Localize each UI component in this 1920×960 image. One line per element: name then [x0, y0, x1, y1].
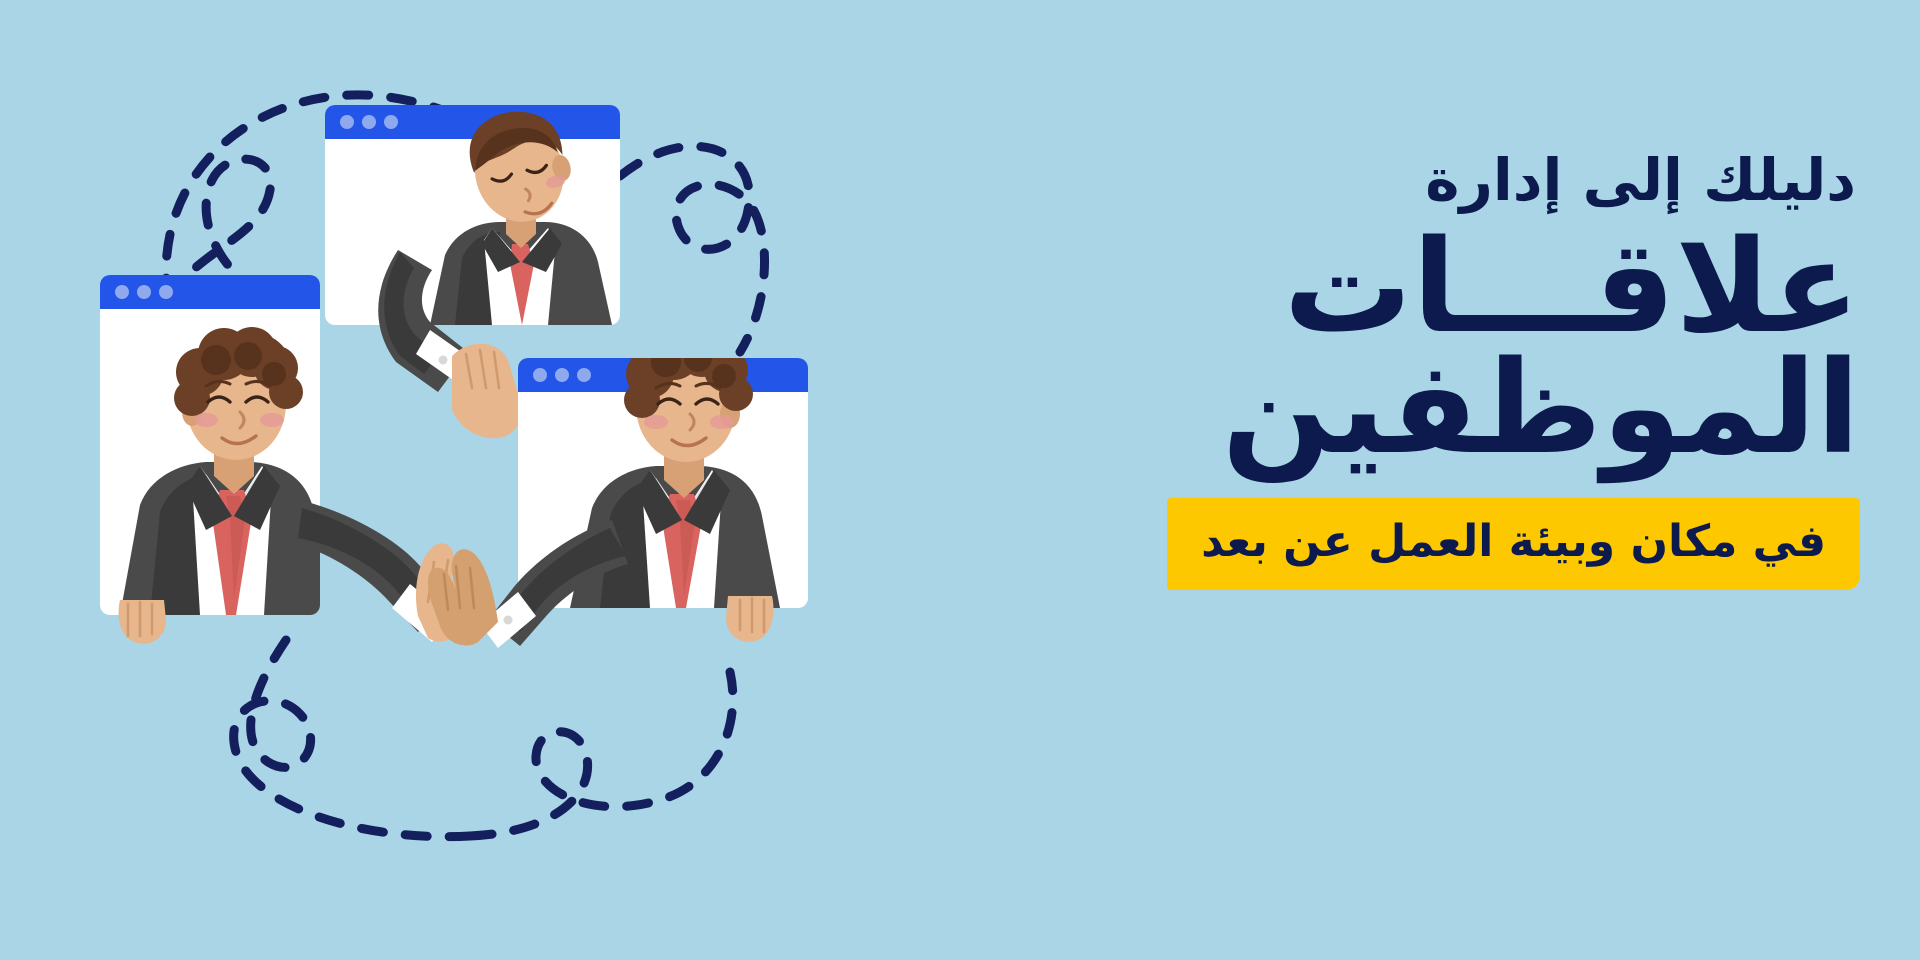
illustration — [0, 0, 960, 960]
headline-line-1: علاقـــات — [1020, 225, 1860, 352]
hands-right-bottom — [726, 596, 773, 642]
eyebrow-text: دليلك إلى إدارة — [1020, 150, 1860, 211]
subtitle-ribbon: في مكان وبيئة العمل عن بعد — [1167, 498, 1860, 590]
hands-left-bottom — [119, 600, 166, 644]
page-title: علاقـــات الموظفين — [1020, 225, 1860, 472]
headline-block: دليلك إلى إدارة علاقـــات الموظفين في مك… — [1020, 150, 1860, 590]
ribbon-container: في مكان وبيئة العمل عن بعد — [1020, 472, 1860, 590]
illustration-svg — [0, 0, 960, 960]
banner-root: دليلك إلى إدارة علاقـــات الموظفين في مك… — [0, 0, 1920, 960]
browser-window-left — [100, 275, 330, 615]
browser-window-top — [325, 101, 620, 325]
headline-line-2: الموظفين — [1020, 346, 1860, 473]
